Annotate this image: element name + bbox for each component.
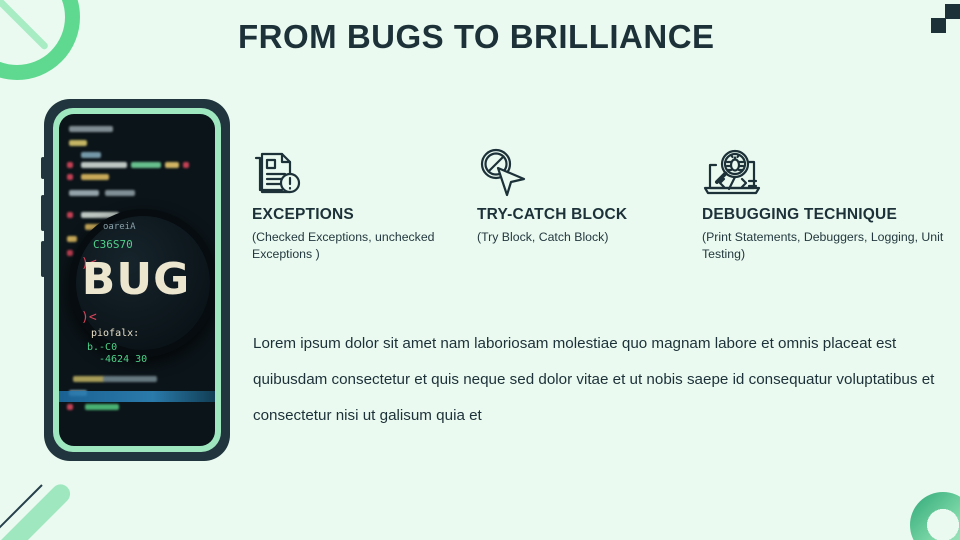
feature-subtext: (Print Statements, Debuggers, Logging, U… xyxy=(702,229,952,264)
slide-canvas: FROM BUGS TO BRILLIANCE xyxy=(0,0,960,540)
page-title: FROM BUGS TO BRILLIANCE xyxy=(238,18,715,56)
phone-mockup: oareiA C36S70 )< BUG )< piofalx: b.-C0 -… xyxy=(44,99,230,461)
feature-subtext: (Try Block, Catch Block) xyxy=(477,229,677,246)
bug-word: BUG xyxy=(69,254,203,305)
feature-heading: TRY-CATCH BLOCK xyxy=(477,206,677,224)
feature-heading: DEBUGGING TECHNIQUE xyxy=(702,206,952,224)
feature-item-try-catch: TRY-CATCH BLOCK (Try Block, Catch Block) xyxy=(477,148,677,246)
decoration-top-right-squares xyxy=(920,0,960,40)
blocked-cursor-icon xyxy=(477,148,677,200)
document-alert-icon xyxy=(252,148,452,200)
phone-bezel: oareiA C36S70 )< BUG )< piofalx: b.-C0 -… xyxy=(53,108,221,452)
phone-button-mute xyxy=(41,157,45,179)
decoration-bottom-right-ring xyxy=(910,492,960,540)
phone-screen: oareiA C36S70 )< BUG )< piofalx: b.-C0 -… xyxy=(59,114,215,446)
phone-button-volume-up xyxy=(41,195,45,231)
laptop-bug-magnifier-icon xyxy=(702,148,952,200)
feature-item-debugging: DEBUGGING TECHNIQUE (Print Statements, D… xyxy=(702,148,952,264)
feature-item-exceptions: EXCEPTIONS (Checked Exceptions, unchecke… xyxy=(252,148,452,264)
body-paragraph: Lorem ipsum dolor sit amet nam laboriosa… xyxy=(253,326,953,434)
screen-taskbar xyxy=(59,391,215,402)
feature-subtext: (Checked Exceptions, unchecked Exception… xyxy=(252,229,452,264)
feature-heading: EXCEPTIONS xyxy=(252,206,452,224)
phone-button-volume-down xyxy=(41,241,45,277)
